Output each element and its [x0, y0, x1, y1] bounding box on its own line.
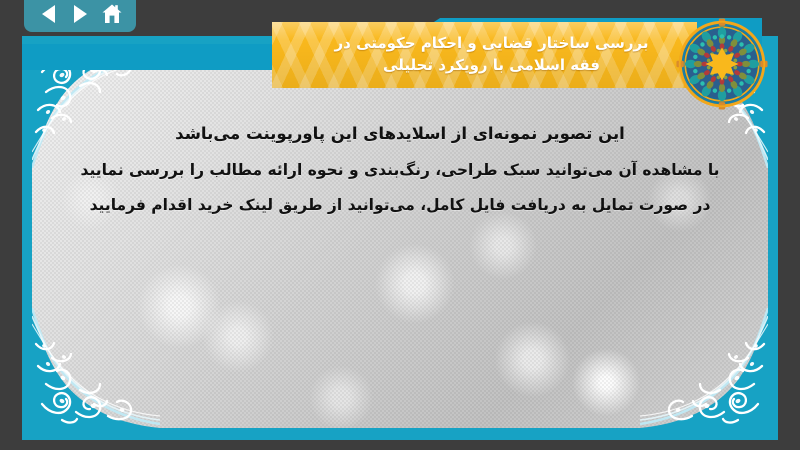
persian-medallion-icon [676, 18, 768, 110]
title-line-2: فقه اسلامی با رویکرد تحلیلی [335, 55, 649, 77]
body-line-2: با مشاهده آن می‌توانید سبک طراحی، رنگ‌بن… [32, 163, 768, 179]
previous-slide-button[interactable] [35, 2, 61, 26]
home-button[interactable] [99, 2, 125, 26]
presentation-slide: این تصویر نمونه‌ای از اسلایدهای این پاور… [22, 36, 778, 440]
slide-title-banner: بررسی ساختار قضایی و احکام حکومتی در فقه… [272, 22, 697, 88]
body-line-3: در صورت تمایل به دریافت فایل کامل، می‌تو… [32, 198, 768, 214]
arrow-right-icon [74, 5, 87, 23]
arabesque-corner-bottom-left-icon [32, 308, 160, 428]
slide-texture-overlay [32, 48, 768, 428]
body-line-1: این تصویر نمونه‌ای از اسلایدهای این پاور… [32, 126, 768, 143]
slide-canvas: این تصویر نمونه‌ای از اسلایدهای این پاور… [32, 48, 768, 428]
arabesque-corner-bottom-right-icon [640, 308, 768, 428]
arrow-left-icon [42, 5, 55, 23]
home-icon [100, 3, 124, 25]
next-slide-button[interactable] [67, 2, 93, 26]
page-title: بررسی ساختار قضایی و احکام حکومتی در فقه… [295, 33, 675, 77]
title-line-1: بررسی ساختار قضایی و احکام حکومتی در [335, 33, 649, 55]
slide-body-text: این تصویر نمونه‌ای از اسلایدهای این پاور… [32, 126, 768, 234]
slide-navigation-bar[interactable] [24, 0, 136, 32]
